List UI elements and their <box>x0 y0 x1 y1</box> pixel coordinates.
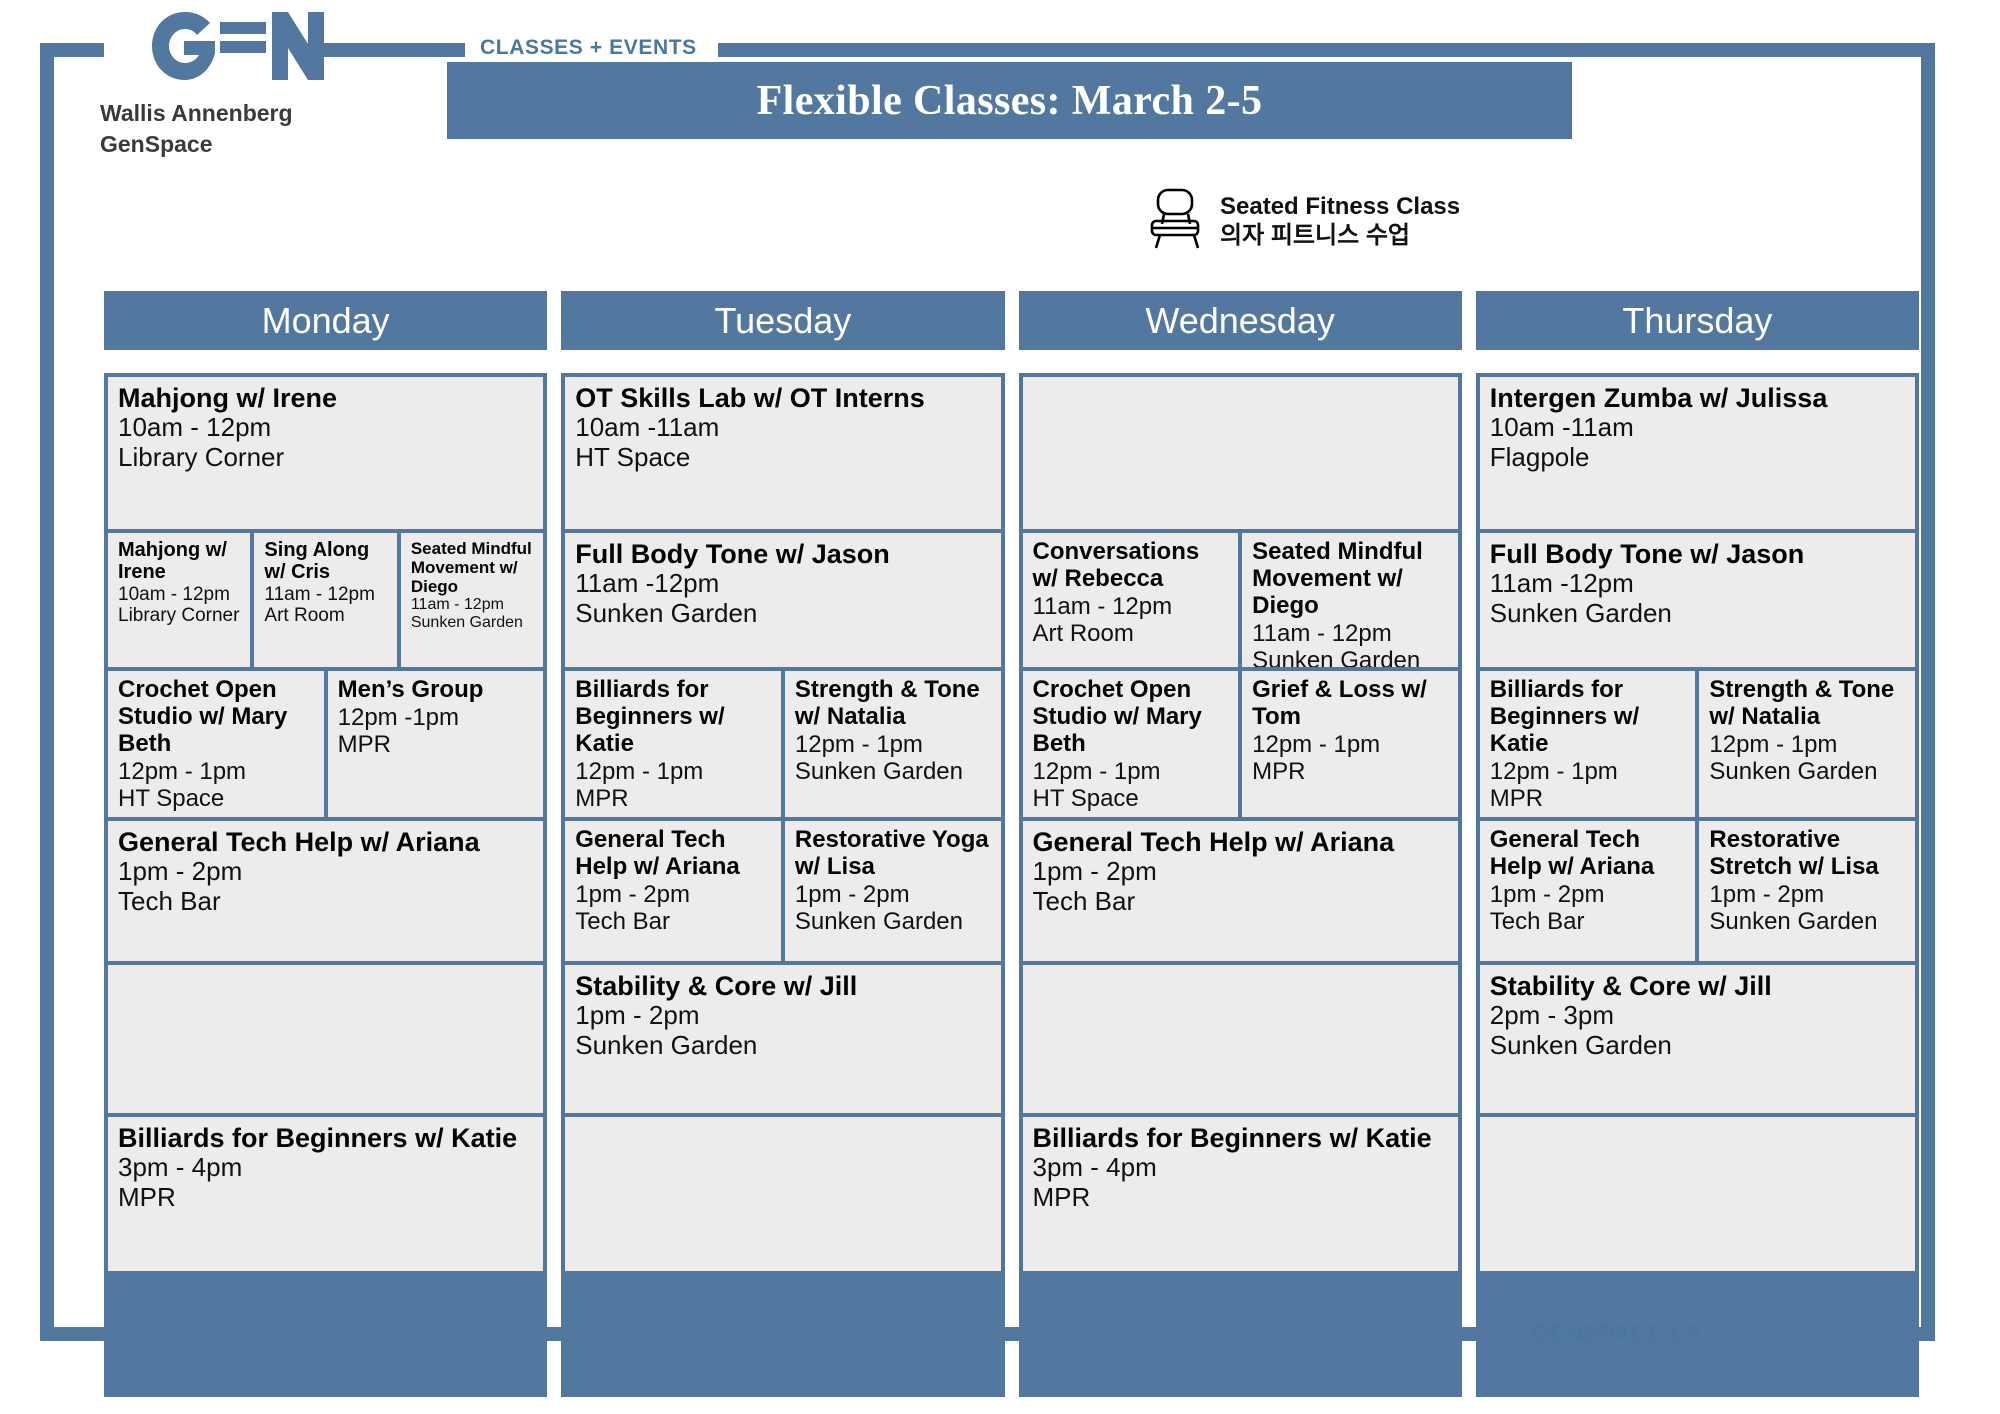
schedule-row <box>565 1117 1000 1271</box>
class-event-card[interactable]: Intergen Zumba w/ Julissa10am -11amFlagp… <box>1480 377 1915 529</box>
class-event-card[interactable]: Stability & Core w/ Jill1pm - 2pmSunken … <box>565 965 1000 1113</box>
class-time: 10am - 12pm <box>118 413 535 442</box>
class-time: 2pm - 3pm <box>1490 1001 1907 1030</box>
class-event-card[interactable]: OT Skills Lab w/ OT Interns10am -11amHT … <box>565 377 1000 529</box>
day-events-list: Conversations w/ Rebecca11am - 12pmArt R… <box>1019 373 1462 1397</box>
page-title: Flexible Classes: March 2-5 <box>447 62 1572 139</box>
class-time: 1pm - 2pm <box>118 857 535 886</box>
class-event-card[interactable]: Restorative Yoga w/ Lisa1pm - 2pmSunken … <box>785 821 1001 961</box>
day-header-monday: Monday <box>104 291 547 350</box>
class-title: Stability & Core w/ Jill <box>575 971 992 1001</box>
class-event-card[interactable]: Strength & Tone w/ Natalia12pm - 1pmSunk… <box>1699 671 1915 817</box>
class-time: 12pm - 1pm <box>1490 758 1688 785</box>
day-header-wednesday: Wednesday <box>1019 291 1462 350</box>
footer-website: GENSPACE.LA <box>1532 1320 1702 1347</box>
class-event-card[interactable]: Billiards for Beginners w/ Katie12pm - 1… <box>565 671 781 817</box>
class-location: Art Room <box>264 605 388 626</box>
class-location: Art Room <box>1033 620 1231 647</box>
class-event-card[interactable]: Billiards for Beginners w/ Katie12pm - 1… <box>1480 671 1696 817</box>
day-column-wednesday: WednesdayConversations w/ Rebecca11am - … <box>1019 291 1462 1397</box>
class-time: 11am - 12pm <box>1252 620 1450 647</box>
class-location: Sunken Garden <box>795 908 993 935</box>
class-time: 1pm - 2pm <box>795 881 993 908</box>
schedule-row: Conversations w/ Rebecca11am - 12pmArt R… <box>1023 533 1458 667</box>
class-location: Library Corner <box>118 443 535 472</box>
frame-border-left <box>40 43 54 1341</box>
class-title: Billiards for Beginners w/ Katie <box>575 677 773 758</box>
brand-wordmark: Wallis Annenberg GenSpace <box>100 98 330 160</box>
class-time: 12pm - 1pm <box>1709 731 1907 758</box>
chair-icon <box>1148 188 1206 255</box>
schedule-row: Full Body Tone w/ Jason11am -12pmSunken … <box>565 533 1000 667</box>
class-event-card[interactable]: Strength & Tone w/ Natalia12pm - 1pmSunk… <box>785 671 1001 817</box>
class-location: Sunken Garden <box>1252 647 1450 667</box>
class-event-card[interactable]: Mahjong w/ Irene10am - 12pmLibrary Corne… <box>108 533 250 667</box>
class-location: Tech Bar <box>118 887 535 916</box>
class-title: Intergen Zumba w/ Julissa <box>1490 383 1907 413</box>
class-event-card[interactable]: General Tech Help w/ Ariana1pm - 2pmTech… <box>1023 821 1458 961</box>
class-location: MPR <box>1033 1183 1450 1212</box>
class-time: 1pm - 2pm <box>1490 881 1688 908</box>
empty-slot <box>108 965 543 1113</box>
class-location: HT Space <box>118 785 316 812</box>
class-time: 11am - 12pm <box>264 584 388 605</box>
class-title: General Tech Help w/ Ariana <box>1490 827 1688 881</box>
class-title: Restorative Yoga w/ Lisa <box>795 827 993 881</box>
schedule-row: Billiards for Beginners w/ Katie3pm - 4p… <box>108 1117 543 1271</box>
class-title: Mahjong w/ Irene <box>118 539 242 584</box>
class-event-card[interactable]: Men’s Group12pm -1pmMPR <box>328 671 544 817</box>
class-location: Sunken Garden <box>411 614 535 632</box>
class-time: 11am -12pm <box>575 569 992 598</box>
day-header-thursday: Thursday <box>1476 291 1919 350</box>
class-title: Conversations w/ Rebecca <box>1033 539 1231 593</box>
day-header-label: Tuesday <box>715 300 852 342</box>
class-location: Sunken Garden <box>575 599 992 628</box>
class-title: OT Skills Lab w/ OT Interns <box>575 383 992 413</box>
day-column-monday: MondayMahjong w/ Irene10am - 12pmLibrary… <box>104 291 547 1397</box>
class-event-card[interactable]: Full Body Tone w/ Jason11am -12pmSunken … <box>1480 533 1915 667</box>
schedule-row: OT Skills Lab w/ OT Interns10am -11amHT … <box>565 377 1000 529</box>
class-title: Strength & Tone w/ Natalia <box>1709 677 1907 731</box>
frame-border-right <box>1921 43 1935 1341</box>
class-title: Billiards for Beginners w/ Katie <box>1490 677 1688 758</box>
day-header-label: Monday <box>262 300 390 342</box>
class-location: Sunken Garden <box>575 1031 992 1060</box>
class-time: 10am - 12pm <box>118 584 242 605</box>
day-events-list: OT Skills Lab w/ OT Interns10am -11amHT … <box>561 373 1004 1397</box>
weekly-schedule-grid: MondayMahjong w/ Irene10am - 12pmLibrary… <box>104 291 1919 1397</box>
class-event-card[interactable]: Grief & Loss w/ Tom12pm - 1pmMPR <box>1242 671 1458 817</box>
class-location: Sunken Garden <box>1709 908 1907 935</box>
class-location: MPR <box>338 731 536 758</box>
class-event-card[interactable]: General Tech Help w/ Ariana1pm - 2pmTech… <box>108 821 543 961</box>
legend: Seated Fitness Class 의자 피트니스 수업 <box>1148 188 1460 255</box>
class-time: 1pm - 2pm <box>1709 881 1907 908</box>
class-location: Tech Bar <box>1033 887 1450 916</box>
schedule-row: Intergen Zumba w/ Julissa10am -11amFlagp… <box>1480 377 1915 529</box>
schedule-row: General Tech Help w/ Ariana1pm - 2pmTech… <box>108 821 543 961</box>
class-event-card[interactable]: Conversations w/ Rebecca11am - 12pmArt R… <box>1023 533 1239 667</box>
class-time: 10am -11am <box>575 413 992 442</box>
class-title: General Tech Help w/ Ariana <box>1033 827 1450 857</box>
class-location: MPR <box>1252 758 1450 785</box>
schedule-row: Billiards for Beginners w/ Katie3pm - 4p… <box>1023 1117 1458 1271</box>
class-title: Mahjong w/ Irene <box>118 383 535 413</box>
class-location: MPR <box>118 1183 535 1212</box>
class-event-card[interactable]: Crochet Open Studio w/ Mary Beth12pm - 1… <box>1023 671 1239 817</box>
class-time: 11am - 12pm <box>1033 593 1231 620</box>
day-header-label: Thursday <box>1622 300 1772 342</box>
class-time: 3pm - 4pm <box>118 1153 535 1182</box>
class-title: Seated Mindful Movement w/ Diego <box>411 539 535 596</box>
brand-wordmark-line2: GenSpace <box>100 129 330 160</box>
schedule-row: General Tech Help w/ Ariana1pm - 2pmTech… <box>1023 821 1458 961</box>
class-title: Restorative Stretch w/ Lisa <box>1709 827 1907 881</box>
class-title: Seated Mindful Movement w/ Diego <box>1252 539 1450 620</box>
brand-wordmark-line1: Wallis Annenberg <box>100 98 330 129</box>
class-location: Sunken Garden <box>1490 599 1907 628</box>
class-location: HT Space <box>575 443 992 472</box>
empty-slot <box>1023 965 1458 1113</box>
class-location: Library Corner <box>118 605 242 626</box>
day-column-thursday: ThursdayIntergen Zumba w/ Julissa10am -1… <box>1476 291 1919 1397</box>
class-location: Tech Bar <box>1490 908 1688 935</box>
class-location: Flagpole <box>1490 443 1907 472</box>
class-time: 12pm - 1pm <box>795 731 993 758</box>
class-event-card[interactable]: General Tech Help w/ Ariana1pm - 2pmTech… <box>1480 821 1696 961</box>
schedule-row: General Tech Help w/ Ariana1pm - 2pmTech… <box>565 821 1000 961</box>
frame-border-top-right <box>718 43 1935 57</box>
class-time: 12pm -1pm <box>338 704 536 731</box>
class-title: General Tech Help w/ Ariana <box>118 827 535 857</box>
class-location: Tech Bar <box>575 908 773 935</box>
class-title: Billiards for Beginners w/ Katie <box>1033 1123 1450 1153</box>
schedule-row: Mahjong w/ Irene10am - 12pmLibrary Corne… <box>108 377 543 529</box>
class-location: Sunken Garden <box>1490 1031 1907 1060</box>
class-time: 12pm - 1pm <box>1033 758 1231 785</box>
class-title: Billiards for Beginners w/ Katie <box>118 1123 535 1153</box>
schedule-row <box>1480 1117 1915 1271</box>
empty-slot <box>565 1117 1000 1271</box>
gen-logo-icon <box>100 10 330 82</box>
empty-slot <box>1023 377 1458 529</box>
class-location: MPR <box>575 785 773 812</box>
class-time: 11am - 12pm <box>411 596 535 614</box>
class-title: General Tech Help w/ Ariana <box>575 827 773 881</box>
class-time: 12pm - 1pm <box>118 758 316 785</box>
day-column-tuesday: TuesdayOT Skills Lab w/ OT Interns10am -… <box>561 291 1004 1397</box>
frame-border-left-top <box>40 43 104 57</box>
day-header-tuesday: Tuesday <box>561 291 1004 350</box>
class-time: 12pm - 1pm <box>1252 731 1450 758</box>
class-title: Full Body Tone w/ Jason <box>1490 539 1907 569</box>
legend-text: Seated Fitness Class 의자 피트니스 수업 <box>1220 193 1460 250</box>
schedule-row: Crochet Open Studio w/ Mary Beth12pm - 1… <box>1023 671 1458 817</box>
class-event-card[interactable]: Stability & Core w/ Jill2pm - 3pmSunken … <box>1480 965 1915 1113</box>
class-time: 3pm - 4pm <box>1033 1153 1450 1182</box>
schedule-row <box>1023 965 1458 1113</box>
class-title: Crochet Open Studio w/ Mary Beth <box>118 677 316 758</box>
class-location: MPR <box>1490 785 1688 812</box>
day-events-list: Mahjong w/ Irene10am - 12pmLibrary Corne… <box>104 373 547 1397</box>
schedule-row: Full Body Tone w/ Jason11am -12pmSunken … <box>1480 533 1915 667</box>
class-title: Sing Along w/ Cris <box>264 539 388 584</box>
class-title: Stability & Core w/ Jill <box>1490 971 1907 1001</box>
schedule-row <box>108 965 543 1113</box>
class-event-card[interactable]: Billiards for Beginners w/ Katie3pm - 4p… <box>1023 1117 1458 1271</box>
schedule-row: General Tech Help w/ Ariana1pm - 2pmTech… <box>1480 821 1915 961</box>
legend-line-ko: 의자 피트니스 수업 <box>1220 222 1460 250</box>
class-event-card[interactable]: Seated Mindful Movement w/ Diego11am - 1… <box>401 533 543 667</box>
schedule-row: Mahjong w/ Irene10am - 12pmLibrary Corne… <box>108 533 543 667</box>
class-event-card[interactable]: Restorative Stretch w/ Lisa1pm - 2pmSunk… <box>1699 821 1915 961</box>
class-event-card[interactable]: Seated Mindful Movement w/ Diego11am - 1… <box>1242 533 1458 667</box>
class-event-card[interactable]: Billiards for Beginners w/ Katie3pm - 4p… <box>108 1117 543 1271</box>
class-location: HT Space <box>1033 785 1231 812</box>
page-title-text: Flexible Classes: March 2-5 <box>757 77 1263 125</box>
class-time: 10am -11am <box>1490 413 1907 442</box>
class-title: Full Body Tone w/ Jason <box>575 539 992 569</box>
class-time: 1pm - 2pm <box>575 881 773 908</box>
class-time: 1pm - 2pm <box>575 1001 992 1030</box>
class-title: Grief & Loss w/ Tom <box>1252 677 1450 731</box>
empty-slot <box>1480 1117 1915 1271</box>
class-event-card[interactable]: General Tech Help w/ Ariana1pm - 2pmTech… <box>565 821 781 961</box>
class-location: Sunken Garden <box>795 758 993 785</box>
class-event-card[interactable]: Mahjong w/ Irene10am - 12pmLibrary Corne… <box>108 377 543 529</box>
class-event-card[interactable]: Sing Along w/ Cris11am - 12pmArt Room <box>254 533 396 667</box>
schedule-row: Billiards for Beginners w/ Katie12pm - 1… <box>1480 671 1915 817</box>
schedule-row: Billiards for Beginners w/ Katie12pm - 1… <box>565 671 1000 817</box>
schedule-row <box>1023 377 1458 529</box>
class-event-card[interactable]: Crochet Open Studio w/ Mary Beth12pm - 1… <box>108 671 324 817</box>
day-events-list: Intergen Zumba w/ Julissa10am -11amFlagp… <box>1476 373 1919 1397</box>
class-title: Men’s Group <box>338 677 536 704</box>
class-title: Crochet Open Studio w/ Mary Beth <box>1033 677 1231 758</box>
day-header-label: Wednesday <box>1145 300 1334 342</box>
legend-line-en: Seated Fitness Class <box>1220 193 1460 221</box>
schedule-row: Stability & Core w/ Jill1pm - 2pmSunken … <box>565 965 1000 1113</box>
class-event-card[interactable]: Full Body Tone w/ Jason11am -12pmSunken … <box>565 533 1000 667</box>
class-time: 1pm - 2pm <box>1033 857 1450 886</box>
class-location: Sunken Garden <box>1709 758 1907 785</box>
schedule-row: Stability & Core w/ Jill2pm - 3pmSunken … <box>1480 965 1915 1113</box>
classes-events-tagline: CLASSES + EVENTS <box>480 36 697 60</box>
brand-logo: Wallis Annenberg GenSpace <box>100 10 330 160</box>
schedule-row: Crochet Open Studio w/ Mary Beth12pm - 1… <box>108 671 543 817</box>
class-time: 11am -12pm <box>1490 569 1907 598</box>
class-title: Strength & Tone w/ Natalia <box>795 677 993 731</box>
class-time: 12pm - 1pm <box>575 758 773 785</box>
